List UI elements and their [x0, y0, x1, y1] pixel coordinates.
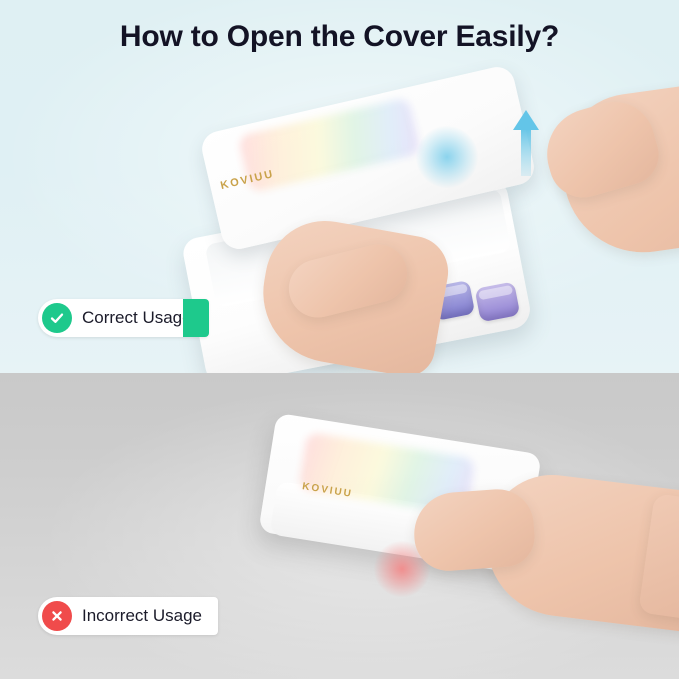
cross-circle-icon: [42, 601, 72, 631]
instruction-graphic: How to Open the Cover Easily? KOVIUU: [0, 0, 679, 679]
correct-badge-tail: [183, 299, 209, 337]
incorrect-usage-badge: Incorrect Usage: [38, 597, 218, 635]
correct-usage-label: Correct Usage: [82, 308, 192, 328]
page-title: How to Open the Cover Easily?: [0, 20, 679, 54]
pill-pod-purple: [475, 281, 521, 322]
correct-usage-badge: Correct Usage: [38, 299, 208, 337]
press-point-indicator-top-right: [416, 126, 478, 188]
incorrect-usage-label: Incorrect Usage: [82, 606, 202, 626]
pill-organizer-open: KOVIUU: [168, 88, 548, 378]
pill-organizer-closed: KOVIUU: [256, 405, 656, 665]
arrow-up-icon: [513, 110, 539, 176]
check-circle-icon: [42, 303, 72, 333]
right-hand-fingers-bottom: [411, 487, 536, 573]
